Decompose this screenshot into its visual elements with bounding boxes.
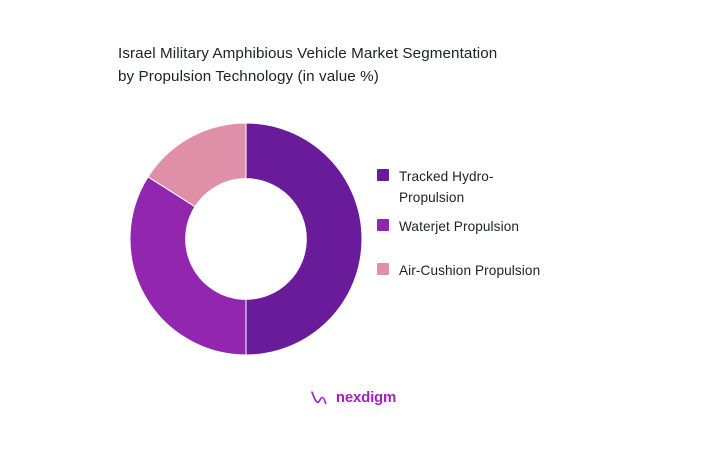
chart-title: Israel Military Amphibious Vehicle Marke…	[118, 42, 618, 88]
donut-slice[interactable]	[246, 123, 362, 355]
legend-item-air-cushion-propulsion[interactable]: Air-Cushion Propulsion	[377, 260, 540, 281]
nexdigm-n-icon	[309, 388, 329, 407]
legend-label-0: Tracked Hydro- Propulsion	[399, 166, 494, 208]
donut-chart	[130, 123, 362, 355]
legend-swatch-icon-1	[377, 219, 389, 231]
legend-item-waterjet-propulsion[interactable]: Waterjet Propulsion	[377, 216, 519, 237]
brand-footer: nexdigm	[0, 388, 705, 407]
legend-label-2: Air-Cushion Propulsion	[399, 260, 540, 281]
chart-figure: Israel Military Amphibious Vehicle Marke…	[0, 0, 705, 457]
legend-swatch-icon-2	[377, 263, 389, 275]
legend-label-1: Waterjet Propulsion	[399, 216, 519, 237]
legend-swatch-icon-0	[377, 169, 389, 181]
donut-slice-group	[130, 123, 362, 355]
brand-wordmark: nexdigm	[336, 390, 396, 405]
legend-item-tracked-hydro-propulsion[interactable]: Tracked Hydro- Propulsion	[377, 166, 494, 208]
donut-slice[interactable]	[130, 177, 246, 355]
donut-chart-svg	[130, 123, 362, 355]
